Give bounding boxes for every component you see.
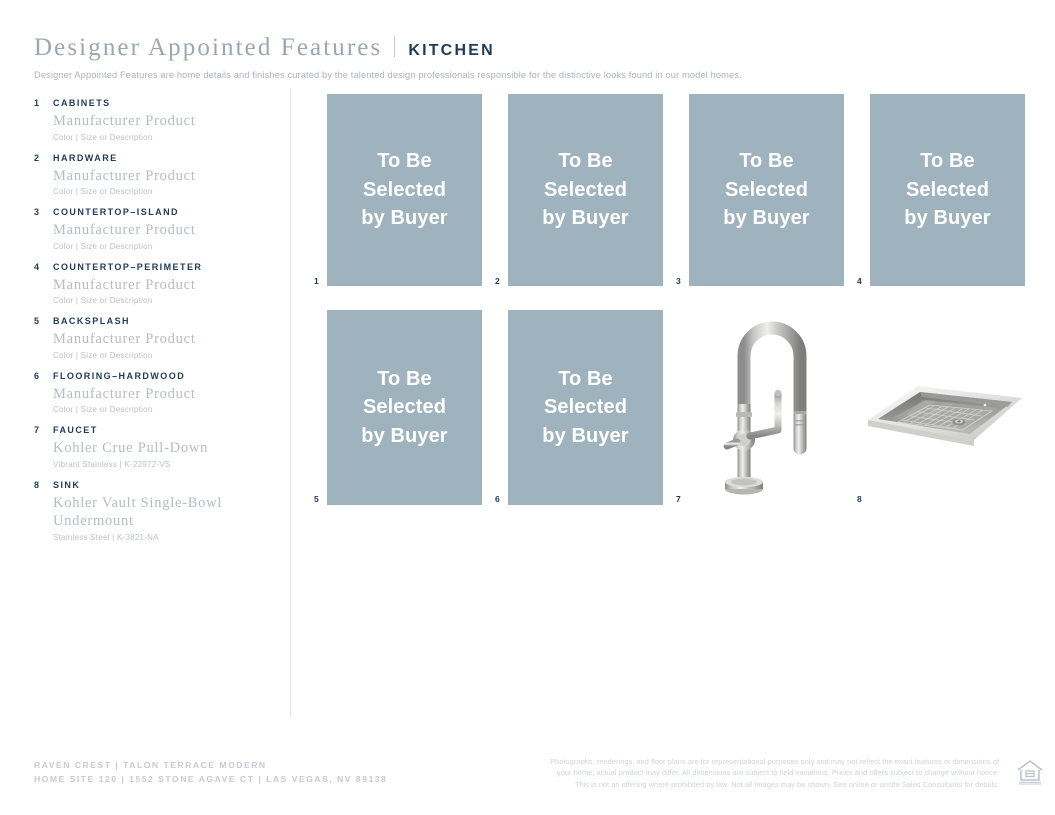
footer-community-line: RAVEN CREST | TALON TERRACE MODERN [34, 759, 387, 773]
spec-description: Color | Size or Description [53, 350, 274, 362]
spec-product: Manufacturer Product [53, 167, 274, 186]
spec-description: Vibrant Stainless | K-22972-VS [53, 459, 274, 471]
spec-number: 3 [34, 206, 53, 219]
vertical-divider [290, 88, 291, 718]
cell-number-7: 7 [676, 494, 681, 504]
sink-image [862, 378, 1027, 464]
equal-housing-logo-svg [1015, 757, 1045, 785]
legal-line-1: Photographs, renderings, and floor plans… [517, 756, 999, 767]
spec-header: 6 FLOORING–HARDWOOD [34, 370, 274, 383]
spec-body: Manufacturer Product Color | Size or Des… [34, 385, 274, 417]
spec-product: Kohler Vault Single-Bowl Undermount [53, 494, 274, 531]
designer-features-page: Designer Appointed Features KITCHEN Desi… [0, 0, 1055, 815]
tile-line-2: Selected [906, 179, 989, 201]
tile-line-3: by Buyer [542, 207, 628, 229]
cell-number-4: 4 [857, 276, 862, 286]
spec-item-backsplash: 5 BACKSPLASH Manufacturer Product Color … [34, 315, 274, 362]
tile-line-1: To Be [377, 150, 432, 172]
spec-header: 2 HARDWARE [34, 152, 274, 165]
spec-body: Manufacturer Product Color | Size or Des… [34, 330, 274, 362]
tile-placeholder-text-4: To BeSelectedby Buyer [904, 147, 990, 232]
tile-line-2: Selected [363, 396, 446, 418]
spec-description: Color | Size or Description [53, 241, 274, 253]
footer-community-info: RAVEN CREST | TALON TERRACE MODERN HOME … [34, 759, 387, 787]
spec-item-countertop-perimeter: 4 COUNTERTOP–PERIMETER Manufacturer Prod… [34, 261, 274, 308]
spec-body: Manufacturer Product Color | Size or Des… [34, 112, 274, 144]
legal-line-2: your home; actual product may differ. Al… [517, 767, 999, 778]
cell-number-1: 1 [314, 276, 319, 286]
spec-description: Color | Size or Description [53, 295, 274, 307]
product-tile-2[interactable]: To BeSelectedby Buyer [508, 94, 663, 286]
tile-line-3: by Buyer [542, 425, 628, 447]
spec-body: Manufacturer Product Color | Size or Des… [34, 221, 274, 253]
tile-placeholder-text-6: To BeSelectedby Buyer [542, 365, 628, 450]
spec-header: 8 SINK [34, 479, 274, 492]
spec-item-faucet: 7 FAUCET Kohler Crue Pull-Down Vibrant S… [34, 424, 274, 471]
spec-description: Color | Size or Description [53, 132, 274, 144]
spec-item-flooring-hardwood: 6 FLOORING–HARDWOOD Manufacturer Product… [34, 370, 274, 417]
tile-line-3: by Buyer [904, 207, 990, 229]
spec-header: 1 CABINETS [34, 97, 274, 110]
legal-line-3: This is not an offering where prohibited… [517, 779, 999, 790]
spec-product: Manufacturer Product [53, 112, 274, 131]
spec-item-sink: 8 SINK Kohler Vault Single-Bowl Undermou… [34, 479, 274, 544]
cell-number-5: 5 [314, 494, 319, 504]
spec-category: COUNTERTOP–ISLAND [53, 206, 179, 219]
cell-number-2: 2 [495, 276, 500, 286]
spec-description: Color | Size or Description [53, 404, 274, 416]
spec-number: 1 [34, 97, 53, 110]
tile-line-1: To Be [739, 150, 794, 172]
spec-product: Manufacturer Product [53, 276, 274, 295]
tile-line-2: Selected [725, 179, 808, 201]
spec-category: FLOORING–HARDWOOD [53, 370, 185, 383]
spec-number: 6 [34, 370, 53, 383]
spec-list: 1 CABINETS Manufacturer Product Color | … [34, 97, 274, 552]
spec-product: Manufacturer Product [53, 385, 274, 404]
spec-item-countertop-island: 3 COUNTERTOP–ISLAND Manufacturer Product… [34, 206, 274, 253]
spec-item-hardware: 2 HARDWARE Manufacturer Product Color | … [34, 152, 274, 199]
cell-number-8: 8 [857, 494, 862, 504]
spec-category: SINK [53, 479, 80, 492]
spec-number: 2 [34, 152, 53, 165]
spec-category: COUNTERTOP–PERIMETER [53, 261, 202, 274]
spec-header: 7 FAUCET [34, 424, 274, 437]
spec-body: Kohler Crue Pull-Down Vibrant Stainless … [34, 439, 274, 471]
tile-placeholder-text-2: To BeSelectedby Buyer [542, 147, 628, 232]
product-tile-5[interactable]: To BeSelectedby Buyer [327, 310, 482, 505]
tile-line-1: To Be [558, 368, 613, 390]
footer-address-line: HOME SITE 120 | 1552 STONE AGAVE CT | LA… [34, 773, 387, 787]
spec-product: Manufacturer Product [53, 330, 274, 349]
sink-photo[interactable] [862, 378, 1027, 464]
tile-line-1: To Be [920, 150, 975, 172]
spec-header: 3 COUNTERTOP–ISLAND [34, 206, 274, 219]
cell-number-3: 3 [676, 276, 681, 286]
spec-category: BACKSPLASH [53, 315, 130, 328]
spec-body: Manufacturer Product Color | Size or Des… [34, 276, 274, 308]
tile-line-3: by Buyer [361, 207, 447, 229]
tile-line-2: Selected [363, 179, 446, 201]
room-label: KITCHEN [408, 43, 495, 59]
spec-product: Manufacturer Product [53, 221, 274, 240]
spec-number: 5 [34, 315, 53, 328]
spec-description: Color | Size or Description [53, 186, 274, 198]
faucet-image [710, 308, 822, 505]
product-tile-1[interactable]: To BeSelectedby Buyer [327, 94, 482, 286]
product-tile-6[interactable]: To BeSelectedby Buyer [508, 310, 663, 505]
page-title: Designer Appointed Features [34, 35, 382, 60]
product-tile-4[interactable]: To BeSelectedby Buyer [870, 94, 1025, 286]
title-row: Designer Appointed Features KITCHEN [34, 34, 1024, 60]
spec-header: 5 BACKSPLASH [34, 315, 274, 328]
tile-line-1: To Be [377, 368, 432, 390]
tile-line-3: by Buyer [723, 207, 809, 229]
tile-line-1: To Be [558, 150, 613, 172]
tile-placeholder-text-3: To BeSelectedby Buyer [723, 147, 809, 232]
spec-body: Kohler Vault Single-Bowl Undermount Stai… [34, 494, 274, 544]
spec-category: FAUCET [53, 424, 98, 437]
spec-product: Kohler Crue Pull-Down [53, 439, 274, 458]
page-header: Designer Appointed Features KITCHEN Desi… [34, 34, 1024, 81]
product-tile-3[interactable]: To BeSelectedby Buyer [689, 94, 844, 286]
faucet-photo[interactable] [710, 308, 822, 505]
spec-category: HARDWARE [53, 152, 118, 165]
page-subtitle: Designer Appointed Features are home det… [34, 69, 1024, 81]
spec-header: 4 COUNTERTOP–PERIMETER [34, 261, 274, 274]
spec-item-cabinets: 1 CABINETS Manufacturer Product Color | … [34, 97, 274, 144]
spec-description: Stainless Steel | K-3821-NA [53, 532, 274, 544]
tile-line-2: Selected [544, 396, 627, 418]
title-separator [394, 36, 395, 57]
tile-placeholder-text-5: To BeSelectedby Buyer [361, 365, 447, 450]
tile-placeholder-text-1: To BeSelectedby Buyer [361, 147, 447, 232]
spec-number: 8 [34, 479, 53, 492]
footer-legal-disclaimer: Photographs, renderings, and floor plans… [517, 756, 999, 790]
spec-category: CABINETS [53, 97, 111, 110]
tile-line-3: by Buyer [361, 425, 447, 447]
spec-number: 7 [34, 424, 53, 437]
equal-housing-opportunity-icon [1015, 757, 1045, 785]
spec-number: 4 [34, 261, 53, 274]
spec-body: Manufacturer Product Color | Size or Des… [34, 167, 274, 199]
cell-number-6: 6 [495, 494, 500, 504]
tile-line-2: Selected [544, 179, 627, 201]
